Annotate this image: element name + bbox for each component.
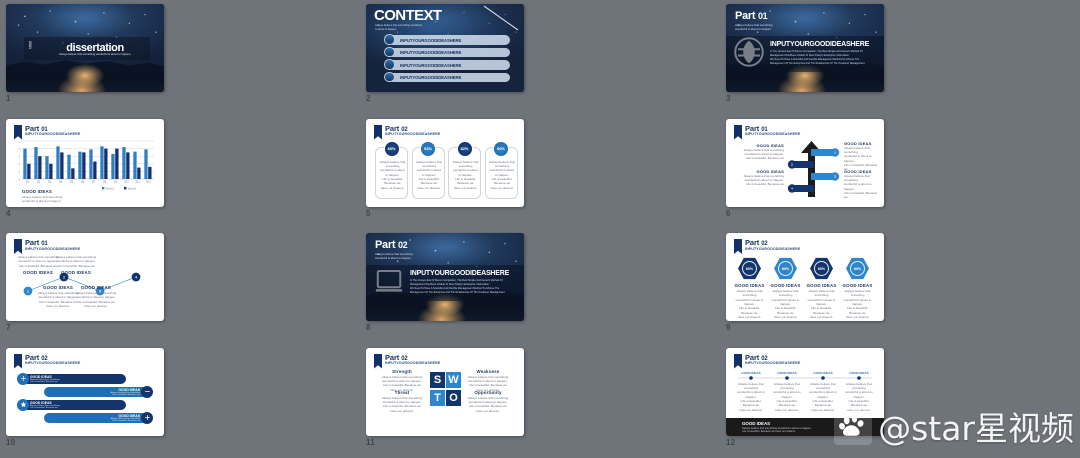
svg-text:Q10: Q10 [124,180,129,183]
slide-number: 2 [366,94,371,103]
body-line: have our dreams. [464,409,512,413]
body-text: Always believe that somethingwonderful i… [844,382,874,412]
good-ideas-heading: GOOD IDEAS [841,283,874,288]
hex-inner-ring: 80% [850,261,865,276]
percent-card[interactable]: 60%Always believe that somethingwonderfu… [485,147,518,199]
hex-badge: 80% [810,257,833,280]
ribbon-icon [374,125,382,140]
slide-thumbnail-wrapper[interactable]: Part 01INPUTYOURGOODIDEASHERE1234GOOD ID… [726,119,884,207]
body-text: Always believe that somethingwonderful i… [416,160,443,190]
hex-inner-ring: 80% [814,261,829,276]
slide-4[interactable]: Part 01INPUTYOURGOODIDEASHERE012345Q1Q2Q… [6,119,164,207]
slide-cell: Part 02INPUTYOURGOODIDEASHERE80%Always b… [360,115,720,230]
agenda-item[interactable]: INPUTYOURGOODIDEASHERE [388,48,510,58]
slide-cell: Part 02INPUTYOURGOODIDEASHERE80%GOOD IDE… [720,229,1080,344]
body-line: wonderful is about to happen. [733,298,766,307]
svg-text:GOOD IDEAS: GOOD IDEAS [849,371,868,375]
body-line: wonderful is about to happen. [805,298,838,307]
percent-value: 82% [460,146,468,151]
slide-cell: Part 02INPUTYOURGOODIDEASHERESWTOStrengt… [360,344,720,458]
slide-subtitle: INPUTYOURGOODIDEASHERE [25,361,80,365]
body-line: Always believe that something [841,289,874,298]
body-line: Always believe that something [844,146,880,155]
swot-quadrant-title: Threat [378,390,426,395]
agenda-bullet-icon [384,47,395,58]
slide-thumbnail-wrapper[interactable]: Part 02INPUTYOURGOODIDEASHERE80%GOOD IDE… [726,233,884,321]
section-header: Part 02Always believe that somethingwond… [375,239,413,260]
svg-text:1: 1 [27,289,29,293]
svg-text:2: 2 [19,162,21,166]
body-text: Always believe that somethingwonderful i… [841,289,874,319]
pill-body-line: Life is beautiful. Because we [111,394,140,396]
body-text: Always believe that somethingwonderful i… [464,396,512,413]
body-line: Life is beautiful. Because we [742,182,784,186]
footer-band: GOOD IDEASAlways believe that something … [726,418,884,436]
body-line: Always believe that something [736,382,766,391]
svg-text:Q6: Q6 [81,180,85,183]
section-body-line: Management Of The Enterprise And The Rel… [770,62,876,66]
percent-value: 92% [424,146,432,151]
agenda-item-label: INPUTYOURGOODIDEASHERE [400,63,461,68]
pill-body: Always believe that somethingLife is bea… [30,405,59,409]
horizon-glow [66,64,104,87]
slide-cell: Part 02Always believe that somethingwond… [360,229,720,344]
svg-text:Q7: Q7 [92,180,96,183]
slide-number: 1 [6,94,11,103]
svg-text:Series2: Series2 [128,187,137,190]
body-line: Always believe that something [379,160,406,169]
svg-text:2: 2 [63,275,65,279]
slide-cell: Part 02INPUTYOURGOODIDEASHEREGOOD IDEASG… [720,344,1080,458]
body-line: have our dreams. [841,315,874,319]
section-body: In The Context Era Of Fierce Competition… [770,50,876,66]
swot-quadrant-title: Strength [378,369,426,374]
slide-number: 10 [6,438,15,447]
body-line: Life is beautiful. Because we [841,306,874,315]
body-text: Always believe that somethingwonderful i… [733,289,766,319]
svg-text:Q12: Q12 [146,180,151,183]
body-line: Life is beautiful. Because we [54,264,98,268]
percent-circle-badge: 80% [384,141,400,157]
body-line: wonderful is about to happen. [808,390,838,399]
pill-body-line: Life is beautiful. Because we [30,407,59,409]
good-ideas-heading: GOOD IDEAS [733,283,766,288]
hex-badge: 80% [738,257,761,280]
slide-5[interactable]: Part 02INPUTYOURGOODIDEASHERE80%Always b… [366,119,524,207]
section-body: In The Context Era Of Fierce Competition… [410,279,516,295]
slide-number: 9 [726,323,731,332]
swot-letter-box: T [430,390,445,406]
body-line: Life is beautiful. Because we [736,399,766,408]
body-line: Life is beautiful. Because we [464,404,512,408]
ribbon-icon [14,354,22,369]
slide-number: 5 [366,209,371,218]
section-desc: Always believe that somethingwonderful i… [735,23,773,31]
body-line: have our dreams. [416,186,443,190]
svg-text:Q8: Q8 [103,180,107,183]
agenda-item-label: INPUTYOURGOODIDEASHERE [400,75,461,80]
body-text: Always believe that somethingwonderful i… [452,160,479,190]
body-text: Always believe that somethingwonderful i… [808,382,838,412]
slide-6[interactable]: Part 01INPUTYOURGOODIDEASHERE1234GOOD ID… [726,119,884,207]
section-heading: INPUTYOURGOODIDEASHERE [410,270,516,277]
part-word: Part [735,10,758,22]
body-line: wonderful is about to happen. [844,390,874,399]
body-text: Always believe that somethingwonderful i… [74,291,118,308]
body-line: Always believe that something [844,382,874,391]
slide-cell: Part 01INPUTYOURGOODIDEASHERE1234Always … [0,229,360,344]
slide-thumbnail-wrapper[interactable]: Part 02Always believe that somethingwond… [366,233,524,321]
body-text: Always believe that somethingwonderful i… [22,195,142,204]
hex-badge: 80% [846,257,869,280]
good-ideas-heading: GOOD IDEAS [22,189,52,194]
slide-number: 6 [726,209,731,218]
slide-number: 7 [6,323,11,332]
swot-quadrant-title: Opportunity [464,390,512,395]
body-line: Life is beautiful. Because we [416,177,443,186]
section-heading: INPUTYOURGOODIDEASHERE [770,41,876,48]
slide-number: 12 [726,438,735,447]
body-line: Always believe that something [769,289,802,298]
body-text: Always believe that somethingwonderful i… [844,174,880,200]
hex-badge: 80% [774,257,797,280]
percent-value: 80% [818,267,825,271]
star-icon [17,399,29,411]
swot-letter: W [448,374,458,386]
pill-body: Always believe that somethingLife is bea… [30,379,59,383]
percent-circle-badge: 92% [420,141,436,157]
percent-value: 60% [497,146,505,151]
slide-number: 8 [366,323,371,332]
svg-text:Q3: Q3 [48,180,52,183]
pill-body-line: Life is beautiful. Because we [111,420,140,422]
percent-value: 80% [854,267,861,271]
slide-number: 11 [366,438,375,447]
swot-letter-box: O [446,390,461,406]
svg-text:0: 0 [19,177,21,181]
title-band: dissertationAlways believe that somethin… [24,37,150,60]
slide-thumbnail-wrapper[interactable]: Part 02INPUTYOURGOODIDEASHEREGOOD IDEASG… [726,348,884,436]
ribbon-icon [374,354,382,369]
body-line: Life is beautiful. Because we [378,383,426,387]
body-line: wonderful is about to happen. [489,168,516,177]
slide-cell: CONTEXTAlways believe that something won… [360,0,720,115]
body-line: have our dreams. [452,186,479,190]
swot-letter-box: S [430,372,445,388]
agenda-bullet-icon [384,72,395,83]
agenda-subtitle: Always believe that something wonderfuli… [375,24,422,32]
svg-text:5: 5 [19,139,21,143]
slide-cell: Part 01INPUTYOURGOODIDEASHERE1234GOOD ID… [720,115,1080,230]
body-line: wonderful is about to happen. [452,168,479,177]
hex-inner-ring: 80% [778,261,793,276]
body-line: have our dreams. [379,186,406,190]
cover-year: 2021 [28,41,32,49]
slide-thumbnail-wrapper[interactable]: Part 02INPUTYOURGOODIDEASHERESWTOStrengt… [366,348,524,436]
body-line: Life is beautiful. Because we [844,191,880,200]
slide-cell: dissertationAlways believe that somethin… [0,0,360,115]
svg-text:Q11: Q11 [135,180,140,183]
svg-text:Q9: Q9 [114,180,118,183]
percent-circle-badge: 60% [493,141,509,157]
slide-11[interactable]: Part 02INPUTYOURGOODIDEASHERESWTOStrengt… [366,348,524,436]
body-line: wonderful is about to happen. [844,154,880,163]
pill-row[interactable]: GOOD IDEASAlways believe that somethingL… [22,374,126,384]
slide-number: 4 [6,209,11,218]
cover-subtitle: Always believe that something wonderful … [46,53,144,56]
pill-body: Always believe that somethingLife is bea… [111,392,140,396]
body-line: wonderful is about to happen. [844,182,880,191]
good-ideas-heading: GOOD IDEAS [74,285,118,290]
body-text: Always believe that somethingwonderful i… [379,160,406,190]
svg-text:Q5: Q5 [70,180,74,183]
body-line: Life is beautiful. Because we [808,399,838,408]
body-line: have our dreams. [489,186,516,190]
slide-12[interactable]: Part 02INPUTYOURGOODIDEASHEREGOOD IDEASG… [726,348,884,436]
section-header: Part 01Always believe that somethingwond… [735,10,773,31]
body-line: have our dreams. [733,315,766,319]
body-line: Life is beautiful. Because we [769,306,802,315]
percent-card[interactable]: 80%Always believe that somethingwonderfu… [375,147,408,199]
svg-text:1: 1 [19,169,21,173]
body-line: Life is beautiful. Because we [489,177,516,186]
body-text: Always believe that somethingwonderful i… [489,160,516,190]
body-line: Life is beautiful. Because we [742,156,784,160]
slide-thumbnail-wrapper[interactable]: CONTEXTAlways believe that something won… [366,4,524,92]
body-line: wonderful is about to happen. [379,168,406,177]
ribbon-icon [734,239,742,254]
section-desc-line: wonderful is about to happen. [375,256,413,260]
slide-thumbnail-wrapper[interactable]: Part 01INPUTYOURGOODIDEASHERE012345Q1Q2Q… [6,119,164,207]
slide-2[interactable]: CONTEXTAlways believe that something won… [366,4,524,92]
agenda-item-label: INPUTYOURGOODIDEASHERE [400,50,461,55]
slide-subtitle: INPUTYOURGOODIDEASHERE [385,132,440,136]
slide-8[interactable]: Part 02Always believe that somethingwond… [366,233,524,321]
slide-1[interactable]: dissertationAlways believe that somethin… [6,4,164,92]
slide-subtitle: INPUTYOURGOODIDEASHERE [385,361,440,365]
part-number: 01 [758,11,767,21]
body-text: Always believe that somethingwonderful i… [742,174,784,187]
svg-text:4: 4 [135,275,137,279]
agenda-item[interactable]: INPUTYOURGOODIDEASHERE [388,35,510,45]
body-line: Always believe that something [452,160,479,169]
swot-letter: S [434,374,441,386]
section-desc: Always believe that somethingwonderful i… [375,252,413,260]
slide-3[interactable]: Part 01Always believe that somethingwond… [726,4,884,92]
section-desc-line: wonderful is about to happen. [735,27,773,31]
svg-text:Q2: Q2 [37,180,41,183]
body-line: wonderful is about to happen. [736,390,766,399]
slide-thumbnail-wrapper[interactable]: dissertationAlways believe that somethin… [6,4,164,92]
plus-icon [141,412,153,424]
percent-value: 80% [782,267,789,271]
slide-thumbnail-wrapper[interactable]: Part 01Always believe that somethingwond… [726,4,884,92]
body-line: wonderful is about to happen. [416,168,443,177]
body-line: Always believe that something [844,174,880,183]
svg-text:GOOD IDEAS: GOOD IDEAS [741,371,760,375]
body-line: have our dreams. [378,409,426,413]
body-text: Always believe that somethingwonderful i… [772,382,802,412]
body-text: Always believe that somethingwonderful i… [54,255,98,268]
svg-text:GOOD IDEAS: GOOD IDEAS [813,371,832,375]
slide-thumbnail-wrapper[interactable]: Part 02INPUTYOURGOODIDEASHEREGOOD IDEASA… [6,348,164,436]
body-text: Always believe that somethingwonderful i… [769,289,802,319]
footer-title: GOOD IDEAS [742,421,770,426]
body-line: have our dreams. [844,408,874,412]
slide-thumbnail-wrapper[interactable]: Part 01INPUTYOURGOODIDEASHERE1234Always … [6,233,164,321]
agenda-bullet-icon [384,34,395,45]
good-ideas-heading: GOOD IDEAS [769,283,802,288]
pill-body: Always believe that somethingLife is bea… [111,418,140,422]
section-part: Part 02 [375,239,413,251]
slide-10[interactable]: Part 02INPUTYOURGOODIDEASHEREGOOD IDEASA… [6,348,164,436]
body-line: wonderful is about to happen. [22,199,142,203]
body-line: Life is beautiful. Because we [464,383,512,387]
slide-9[interactable]: Part 02INPUTYOURGOODIDEASHERE80%GOOD IDE… [726,233,884,321]
body-text: Always believe that somethingwonderful i… [742,148,784,161]
percent-circle-badge: 82% [457,141,473,157]
footer-line: Life is beautiful. Because we have our d… [742,430,812,434]
body-line: Always believe that something [808,382,838,391]
swot-letter: O [449,392,458,404]
swot-letter: T [434,392,441,404]
percent-card[interactable]: 92%Always believe that somethingwonderfu… [412,147,445,199]
section-band: INPUTYOURGOODIDEASHEREIn The Context Era… [726,36,884,72]
body-line: Life is beautiful. Because we [379,177,406,186]
slide-number: 3 [726,94,731,103]
svg-text:Series1: Series1 [106,187,115,190]
body-line: have our dreams. [772,408,802,412]
pill-body-line: Life is beautiful. Because we [30,381,59,383]
body-line: Life is beautiful. Because we [844,399,874,408]
body-line: have our dreams. [74,304,118,308]
section-body-line: Management Of The Enterprise And The Rel… [410,291,516,295]
percent-value: 80% [387,146,395,151]
minus-icon [141,386,153,398]
body-line: Always believe that something [733,289,766,298]
body-line: Always believe that something [416,160,443,169]
svg-text:4: 4 [19,147,21,151]
good-ideas-heading: GOOD IDEAS [54,270,98,275]
agenda-item-label: INPUTYOURGOODIDEASHERE [400,38,461,43]
pill-row[interactable]: GOOD IDEASAlways believe that somethingL… [22,400,126,410]
body-line: Always believe that something [772,382,802,391]
body-text: Always believe that somethingwonderful i… [805,289,838,319]
body-line: Life is beautiful. Because we [733,306,766,315]
body-line: have our dreams. [736,408,766,412]
agenda-title: CONTEXT [374,7,441,24]
body-text: Always believe that somethingwonderful i… [736,382,766,412]
agenda-item[interactable]: INPUTYOURGOODIDEASHERE [388,60,510,70]
svg-text:Q4: Q4 [59,180,63,183]
section-part: Part 01 [735,10,773,22]
slide-thumbnail-wrapper[interactable]: Part 02INPUTYOURGOODIDEASHERE80%Always b… [366,119,524,207]
body-line: wonderful is about to happen. [772,390,802,399]
slide-cell: Part 02INPUTYOURGOODIDEASHEREGOOD IDEASA… [0,344,360,458]
pill-row[interactable]: GOOD IDEASAlways believe that somethingL… [44,413,148,423]
body-line: Life is beautiful. Because we [805,306,838,315]
section-band: INPUTYOURGOODIDEASHEREIn The Context Era… [366,265,524,301]
plus-icon [17,373,29,385]
body-text: Always believe that somethingwonderful i… [378,396,426,413]
agenda-subtitle-line: is about to happen. [375,28,422,32]
body-line: have our dreams. [808,408,838,412]
body-line: Life is beautiful. Because we [452,177,479,186]
slide-thumbnail-grid[interactable]: dissertationAlways believe that somethin… [0,0,1080,458]
body-line: Life is beautiful. Because we [772,399,802,408]
percent-card[interactable]: 82%Always believe that somethingwonderfu… [448,147,481,199]
body-line: Always believe that something [805,289,838,298]
swot-quadrant-title: Weakness [464,369,512,374]
slide-cell: Part 01INPUTYOURGOODIDEASHERE012345Q1Q2Q… [0,115,360,230]
body-line: wonderful is about to happen. [841,298,874,307]
footer-body: Always believe that something wonderful … [742,427,812,435]
agenda-bullet-icon [384,59,395,70]
body-line: Life is beautiful. Because we [378,404,426,408]
svg-text:3: 3 [19,154,21,158]
slide-subtitle: INPUTYOURGOODIDEASHERE [745,247,800,251]
good-ideas-heading: GOOD IDEAS [805,283,838,288]
agenda-item[interactable]: INPUTYOURGOODIDEASHERE [388,73,510,83]
part-word: Part [375,239,398,251]
body-line: wonderful is about to happen. [769,298,802,307]
svg-text:GOOD IDEAS: GOOD IDEAS [777,371,796,375]
slide-cell: Part 01Always believe that somethingwond… [720,0,1080,115]
hex-inner-ring: 80% [742,261,757,276]
pill-row[interactable]: GOOD IDEASAlways believe that somethingL… [44,387,148,397]
slide-7[interactable]: Part 01INPUTYOURGOODIDEASHERE1234Always … [6,233,164,321]
body-line: have our dreams. [769,315,802,319]
body-line: have our dreams. [805,315,838,319]
body-line: Always believe that something [489,160,516,169]
part-number: 02 [398,240,407,250]
percent-value: 80% [746,267,753,271]
svg-text:Q1: Q1 [26,180,30,183]
swot-letter-box: W [446,372,461,388]
